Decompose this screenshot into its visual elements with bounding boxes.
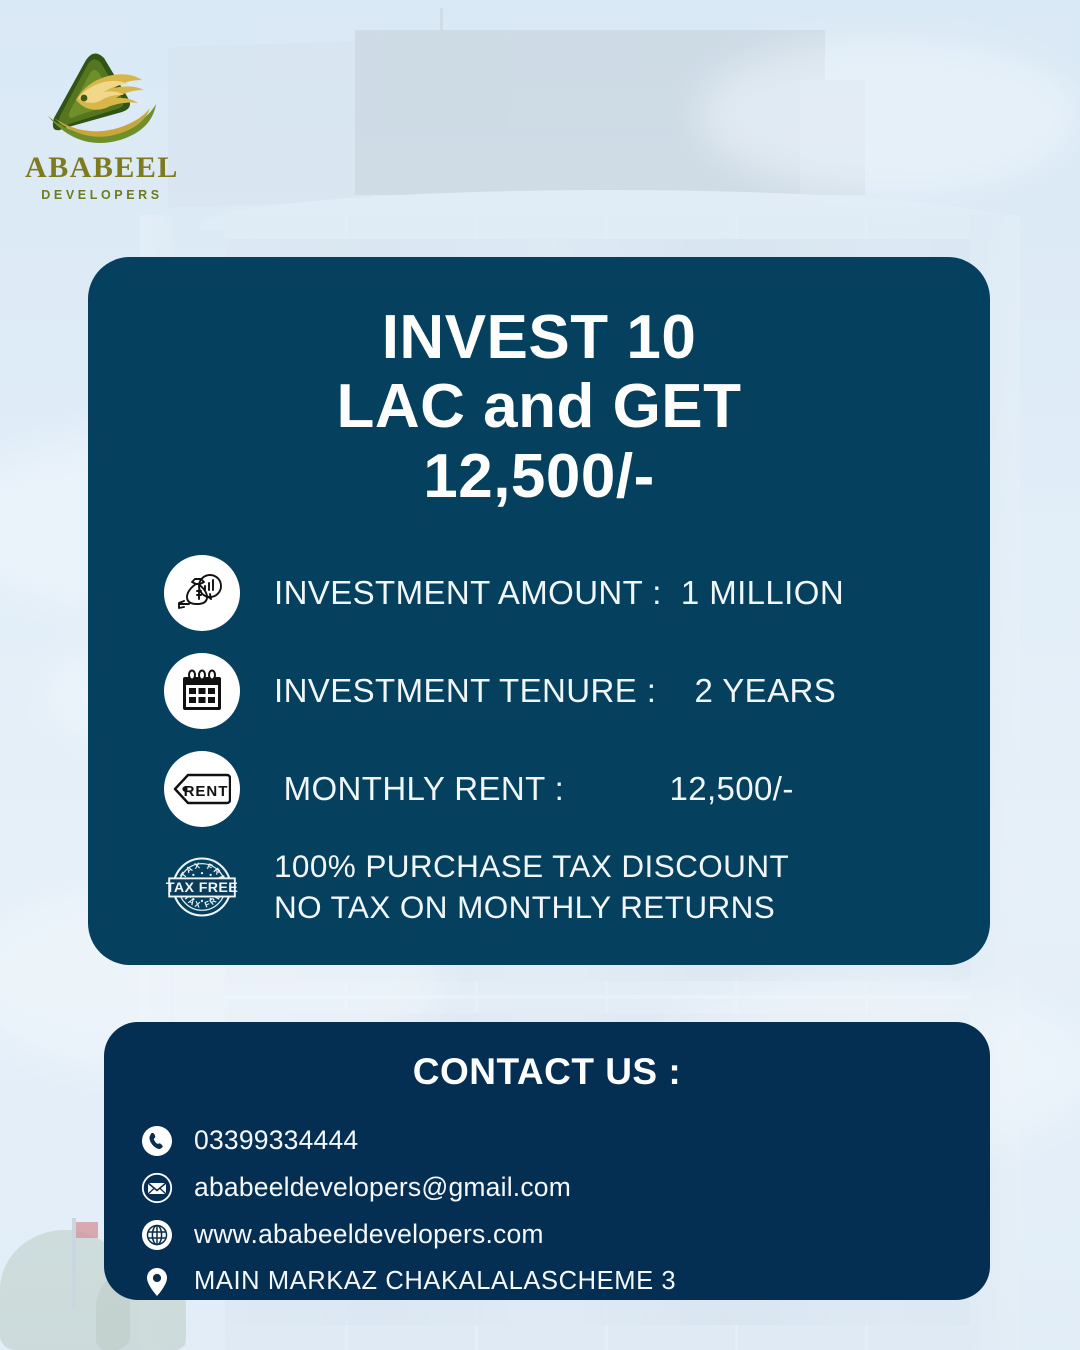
- calendar-icon: [179, 668, 225, 714]
- svg-text:TAX FREE: TAX FREE: [166, 880, 238, 896]
- money-bag-investment-icon: [177, 568, 227, 618]
- rent-tag-icon: RENT: [173, 772, 231, 806]
- contact-row-email[interactable]: ababeeldevelopers@gmail.com: [140, 1164, 990, 1211]
- email-icon: [141, 1172, 173, 1204]
- feature-text-line-1: 100% PURCHASE TAX DISCOUNT: [274, 846, 789, 887]
- headline-line-3: 12,500/-: [128, 442, 950, 511]
- offer-card: INVEST 10 LAC and GET 12,500/-: [88, 257, 990, 965]
- svg-text:RENT: RENT: [184, 783, 229, 800]
- contact-website: www.ababeeldevelopers.com: [194, 1219, 544, 1250]
- feature-text: INVESTMENT AMOUNT : 1 MILLION: [274, 574, 844, 612]
- feature-text: MONTHLY RENT : 12,500/-: [274, 770, 794, 808]
- feature-text: 100% PURCHASE TAX DISCOUNT NO TAX ON MON…: [274, 846, 789, 928]
- feature-row: TAX FREE TAX FREE TAX FREE: [164, 845, 990, 929]
- feature-icon-wrap: TAX FREE TAX FREE TAX FREE: [164, 849, 240, 925]
- brand-logo: ABABEEL DEVELOPERS: [22, 46, 182, 202]
- brand-name: ABABEEL: [22, 153, 182, 183]
- headline: INVEST 10 LAC and GET 12,500/-: [88, 303, 990, 511]
- location-pin-icon: [141, 1266, 173, 1298]
- feature-list: INVESTMENT AMOUNT : 1 MILLION: [88, 551, 990, 929]
- brand-tagline: DEVELOPERS: [22, 188, 182, 202]
- contact-icon-wrap: [140, 1265, 174, 1299]
- icon-circle: RENT: [164, 751, 240, 827]
- feature-text-line-2: NO TAX ON MONTHLY RETURNS: [274, 887, 789, 928]
- feature-icon-wrap: [164, 653, 240, 729]
- contact-row-phone[interactable]: 03399334444: [140, 1117, 990, 1164]
- icon-circle: [164, 653, 240, 729]
- contact-icon-wrap: [140, 1218, 174, 1252]
- contact-email: ababeeldevelopers@gmail.com: [194, 1172, 571, 1203]
- investment-promo-poster: ABABEEL DEVELOPERS INVEST 10 LAC and GET…: [0, 0, 1080, 1350]
- globe-icon: [141, 1219, 173, 1251]
- headline-line-2: LAC and GET: [128, 372, 950, 441]
- contact-title: CONTACT US :: [104, 1022, 990, 1093]
- contact-phone: 03399334444: [194, 1125, 358, 1156]
- feature-row: INVESTMENT TENURE : 2 YEARS: [164, 649, 990, 733]
- feature-row: RENT MONTHLY RENT : 12,500/-: [164, 747, 990, 831]
- tax-free-stamp-icon: TAX FREE TAX FREE TAX FREE: [164, 843, 240, 931]
- contact-address: MAIN MARKAZ CHAKALALASCHEME 3: [194, 1267, 676, 1296]
- contact-row-website[interactable]: www.ababeeldevelopers.com: [140, 1211, 990, 1258]
- icon-circle: [164, 555, 240, 631]
- contact-icon-wrap: [140, 1124, 174, 1158]
- ababeel-bird-logo-icon: [42, 46, 162, 151]
- feature-icon-wrap: RENT: [164, 751, 240, 827]
- phone-icon: [141, 1125, 173, 1157]
- contact-icon-wrap: [140, 1171, 174, 1205]
- contact-list: 03399334444 ababeeldevelopers@gmail.com: [104, 1117, 990, 1305]
- contact-row-address[interactable]: MAIN MARKAZ CHAKALALASCHEME 3: [140, 1258, 990, 1305]
- feature-row: INVESTMENT AMOUNT : 1 MILLION: [164, 551, 990, 635]
- feature-icon-wrap: [164, 555, 240, 631]
- contact-card: CONTACT US : 03399334444: [104, 1022, 990, 1300]
- headline-line-1: INVEST 10: [128, 303, 950, 372]
- feature-text: INVESTMENT TENURE : 2 YEARS: [274, 672, 836, 710]
